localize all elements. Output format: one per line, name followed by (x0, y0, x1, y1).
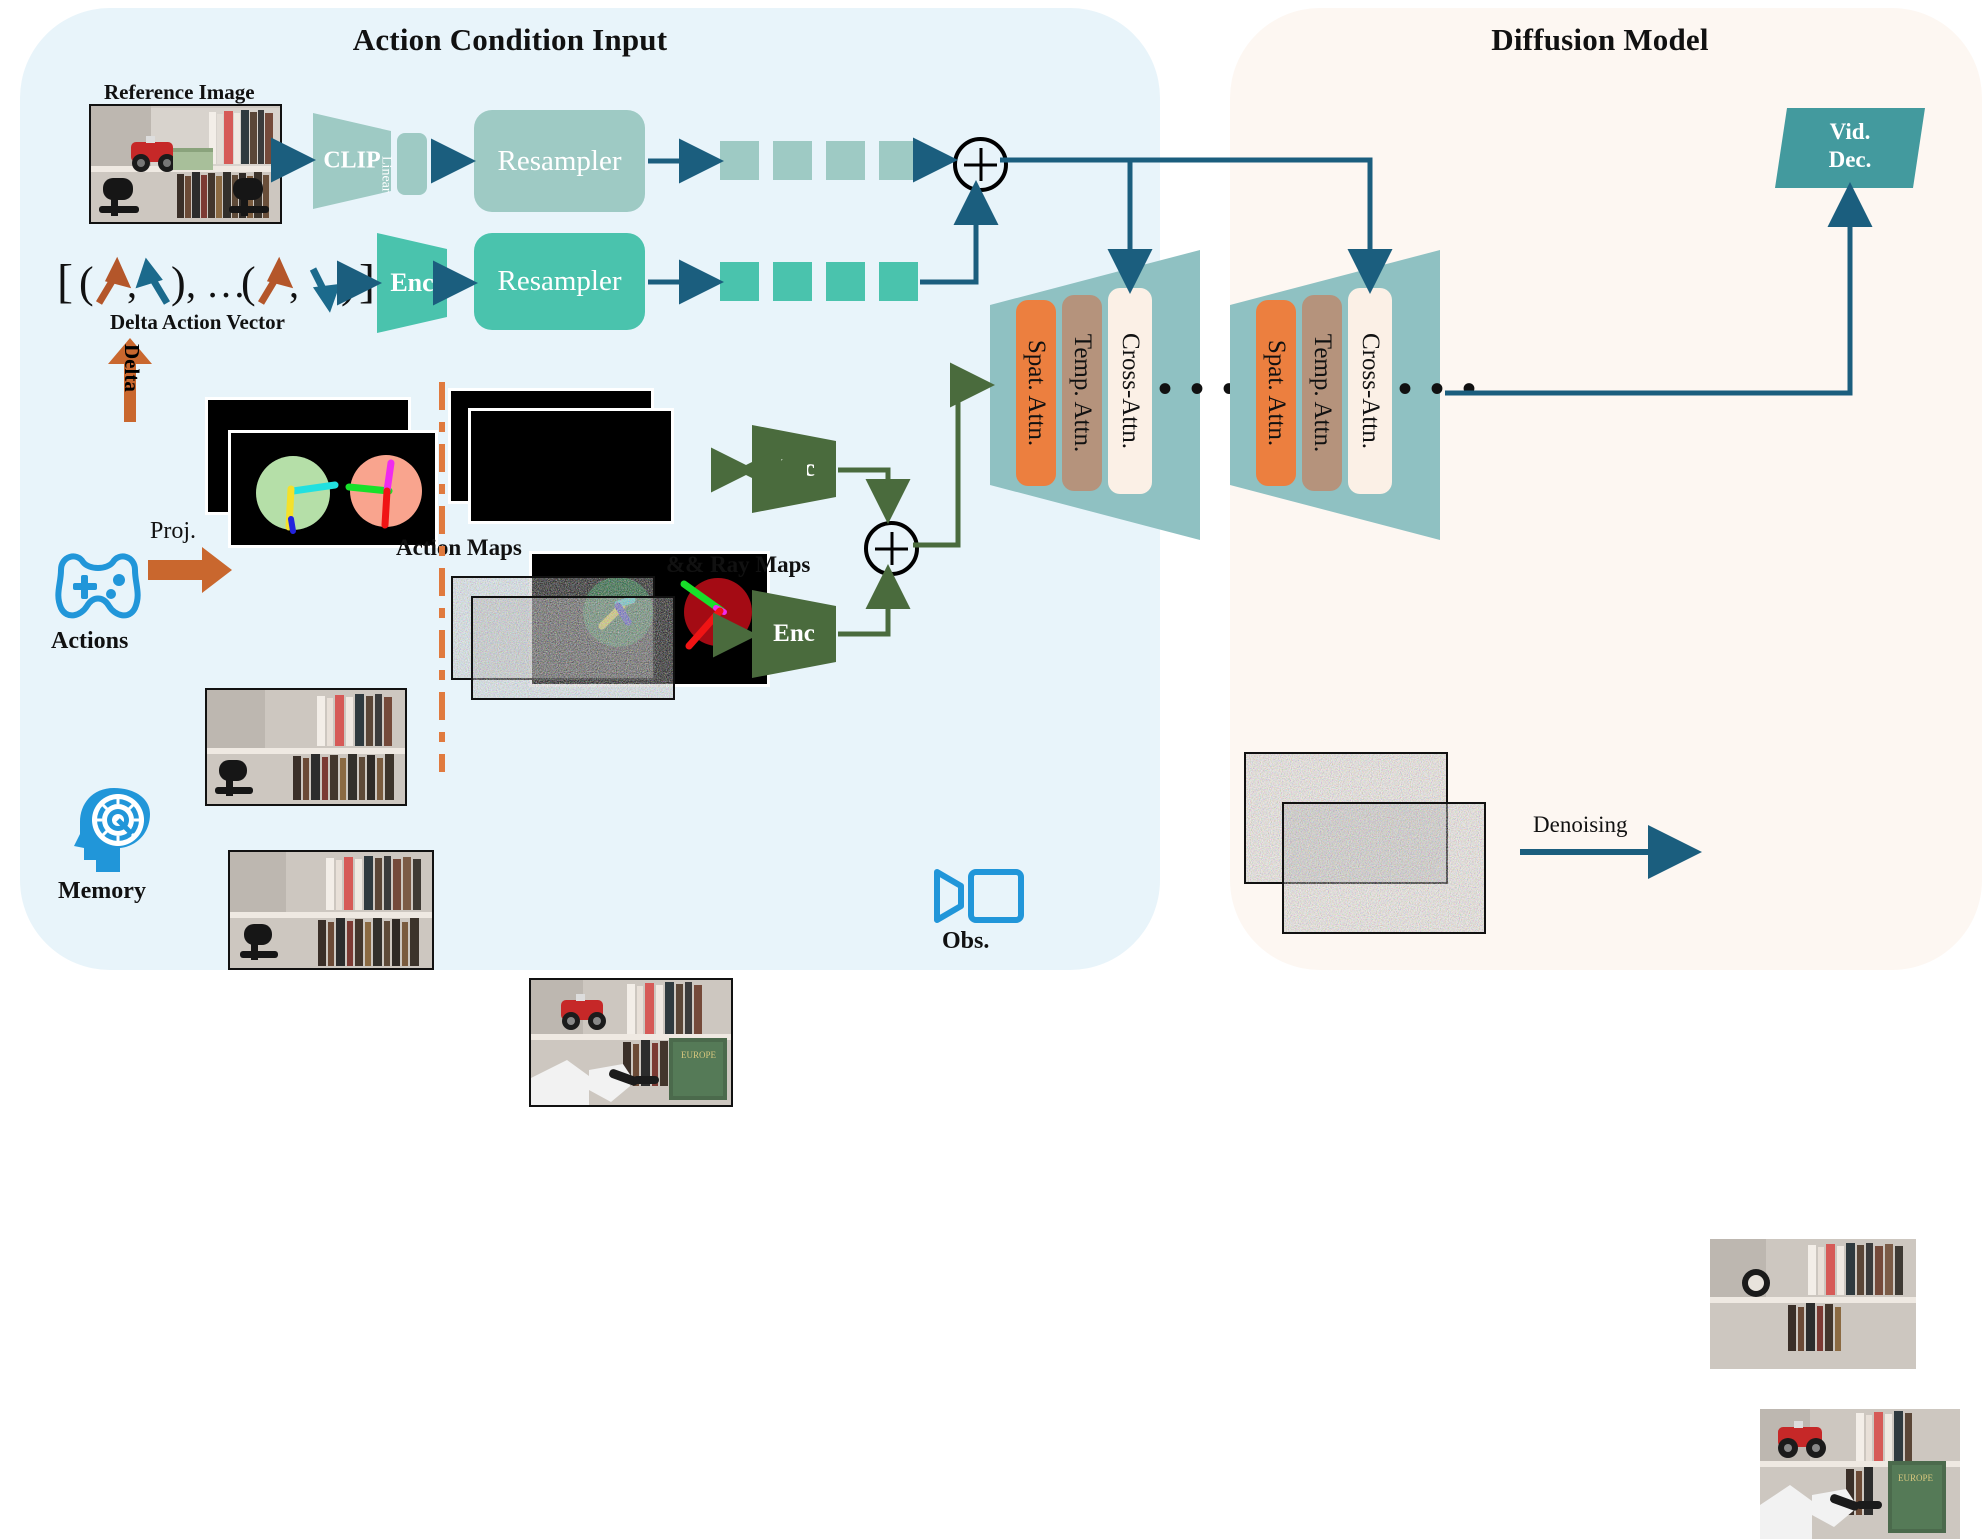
unet-ellipsis-right: • • • (1398, 365, 1480, 412)
resampler-image-block[interactable]: Resampler (474, 110, 645, 212)
cross-attention-bar-right[interactable]: Cross-Attn. (1348, 288, 1392, 494)
svg-text:, …: , … (186, 261, 246, 306)
reference-image-thumbnail (89, 104, 282, 224)
plus-circle-top (953, 137, 1008, 192)
obs-photo-front: EUROPE (529, 978, 733, 1107)
svg-text:]: ] (359, 255, 375, 308)
ray-map-frame-back1 (468, 408, 674, 524)
actions-label: Actions (51, 628, 128, 655)
image-token-3 (826, 141, 865, 180)
memory-photo-front (228, 850, 434, 970)
action-map-frame-front (228, 430, 438, 548)
gamepad-icon (49, 550, 147, 624)
action-encoder-block[interactable]: Enc (377, 233, 447, 333)
memory-head-icon (74, 782, 154, 872)
action-maps-label: Action Maps (396, 535, 522, 561)
noisy-obs-frame-back1 (471, 596, 675, 700)
resampler-bottom-label: Resampler (497, 265, 621, 298)
temp-attn-label-left: Temp. Attn. (1068, 334, 1096, 452)
delta-action-vector-expression: [ ( , ) , … ( , ) ] (55, 245, 385, 315)
svg-text:): ) (171, 258, 186, 307)
temporal-attention-bar-left[interactable]: Temp. Attn. (1062, 295, 1102, 491)
denoise-input-front (1282, 802, 1486, 934)
delta-arrow-label: Delta (119, 344, 144, 392)
delta-arrow-label-wrap: Delta (144, 344, 192, 369)
divider-action-maps (437, 382, 447, 772)
cross-attn-label-left: Cross-Attn. (1116, 333, 1144, 449)
cross-attn-label-right: Cross-Attn. (1356, 333, 1384, 449)
vid-dec-line2: Dec. (1775, 146, 1925, 174)
video-decoder-labels: Vid. Dec. (1775, 118, 1925, 174)
vid-dec-line1: Vid. (1775, 118, 1925, 146)
camera-icon (931, 866, 1027, 924)
enc-obs-label: Enc (752, 620, 836, 648)
resampler-action-block[interactable]: Resampler (474, 233, 645, 330)
memory-label: Memory (58, 878, 146, 905)
denoising-label: Denoising (1533, 812, 1628, 838)
linear-projection-block[interactable]: Linear (397, 133, 427, 195)
delta-action-vector-label: Delta Action Vector (110, 310, 285, 335)
svg-text:,: , (127, 261, 137, 306)
ray-maps-label: && Ray Maps (666, 552, 810, 578)
proj-label: Proj. (150, 518, 196, 545)
memory-photo-back (205, 688, 407, 806)
temporal-attention-bar-right[interactable]: Temp. Attn. (1302, 295, 1342, 491)
ray-map-encoder-block[interactable]: Enc (752, 425, 836, 513)
temp-attn-label-right: Temp. Attn. (1308, 334, 1336, 452)
svg-text:[: [ (57, 255, 73, 308)
svg-text:EUROPE: EUROPE (1898, 1473, 1934, 1483)
action-token-4 (879, 262, 918, 301)
svg-text:): ) (341, 258, 356, 307)
spatial-attention-bar-right[interactable]: Spat. Attn. (1256, 300, 1296, 486)
svg-text:(: ( (241, 258, 256, 307)
image-token-4 (879, 141, 918, 180)
proj-arrow-icon (148, 547, 232, 593)
action-token-1 (720, 262, 759, 301)
obs-label: Obs. (942, 928, 989, 955)
svg-text:EUROPE: EUROPE (681, 1050, 717, 1060)
cross-attention-bar-left[interactable]: Cross-Attn. (1108, 288, 1152, 494)
enc-ray-label: Enc (752, 455, 836, 483)
denoise-output-back (1710, 1239, 1916, 1369)
spat-attn-label-left: Spat. Attn. (1022, 340, 1050, 446)
linear-label: Linear (378, 156, 394, 193)
plus-circle-bottom (864, 521, 919, 576)
spatial-attention-bar-left[interactable]: Spat. Attn. (1016, 300, 1056, 486)
page-title-diffusion-model: Diffusion Model (1380, 22, 1820, 58)
spat-attn-label-right: Spat. Attn. (1262, 340, 1290, 446)
action-token-3 (826, 262, 865, 301)
obs-encoder-block[interactable]: Enc (752, 590, 836, 678)
enc-action-label: Enc (377, 268, 447, 298)
resampler-top-label: Resampler (497, 145, 621, 178)
denoise-output-front: EUROPE (1760, 1409, 1960, 1539)
unet-ellipsis-left: • • • (1158, 365, 1240, 412)
page-title-action-condition: Action Condition Input (290, 22, 730, 58)
action-token-2 (773, 262, 812, 301)
image-token-2 (773, 141, 812, 180)
reference-image-label: Reference Image (104, 80, 255, 105)
svg-text:(: ( (79, 258, 94, 307)
image-token-1 (720, 141, 759, 180)
svg-text:,: , (289, 261, 299, 306)
